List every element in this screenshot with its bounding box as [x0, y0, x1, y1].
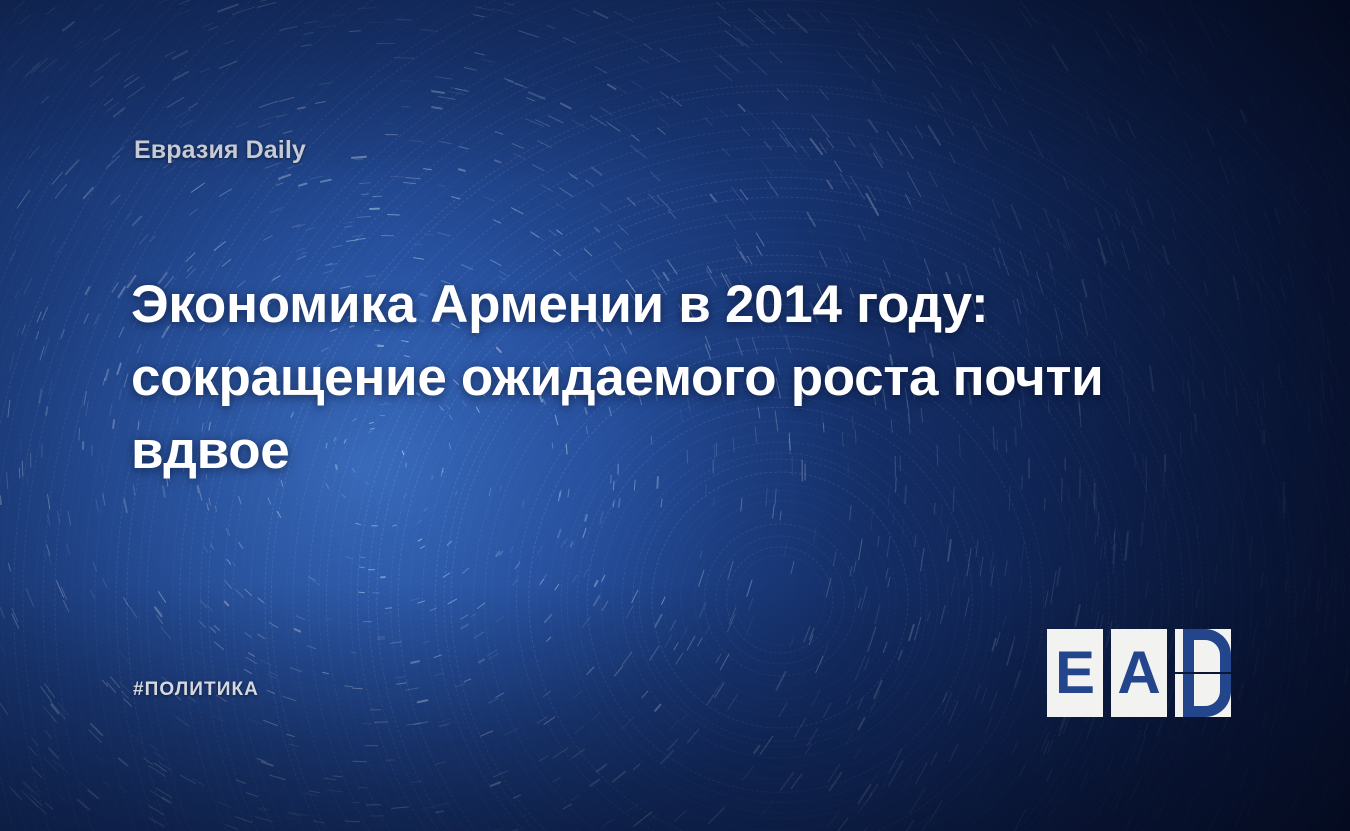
- logo-d-lower-half: [1175, 674, 1231, 717]
- logo-tile-d-split: [1175, 629, 1231, 717]
- page-title: Экономика Армении в 2014 году: сокращени…: [131, 268, 1191, 487]
- logo-glyph-a: A: [1117, 643, 1160, 703]
- logo-tile-e: E: [1047, 629, 1103, 717]
- logo-glyph-e: E: [1055, 643, 1095, 703]
- category-hashtag[interactable]: #ПОЛИТИКА: [133, 679, 259, 701]
- logo-d-upper-half: [1175, 629, 1231, 672]
- logo-tile-a: A: [1111, 629, 1167, 717]
- social-share-card: Евразия Daily Экономика Армении в 2014 г…: [0, 0, 1350, 831]
- brand-name: Евразия Daily: [134, 136, 306, 165]
- eadaily-logo[interactable]: E A: [1047, 629, 1231, 717]
